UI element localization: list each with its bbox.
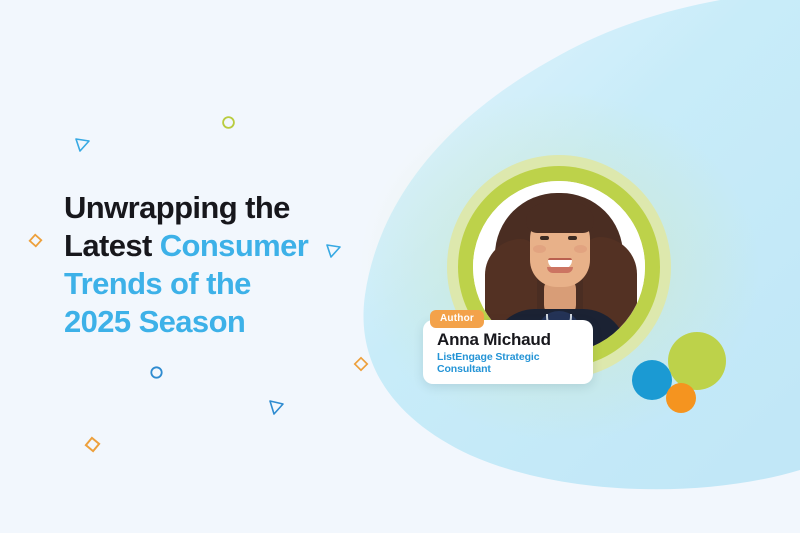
headline-line-1: Unwrapping the [64, 189, 394, 227]
ring-green-top-icon [221, 115, 236, 130]
triangle-blue-lower-icon [267, 398, 285, 416]
diamond-orange-bottom-icon [84, 436, 101, 453]
blog-hero-banner: Unwrapping the Latest Consumer Trends of… [0, 0, 800, 533]
author-role: ListEngage Strategic Consultant [437, 351, 579, 375]
ring-blue-lower-left-icon [149, 365, 164, 380]
status-badge: Author [430, 310, 484, 328]
headline-line-2: Latest Consumer [64, 227, 394, 265]
headline-line-3: Trends of the [64, 265, 394, 303]
author-name: Anna Michaud [437, 330, 579, 350]
triangle-blue-top-left-icon [74, 136, 92, 154]
author-card: Anna Michaud ListEngage Strategic Consul… [423, 320, 593, 384]
accent-circle-green [668, 332, 726, 390]
headline-line-2-dark: Latest [64, 228, 160, 263]
page-title: Unwrapping the Latest Consumer Trends of… [64, 189, 394, 341]
diamond-orange-left-icon [28, 233, 43, 248]
headline-line-2-accent: Consumer [160, 228, 309, 263]
diamond-orange-mid-icon [353, 356, 369, 372]
accent-circle-orange [666, 383, 696, 413]
headline-line-4: 2025 Season [64, 303, 394, 341]
